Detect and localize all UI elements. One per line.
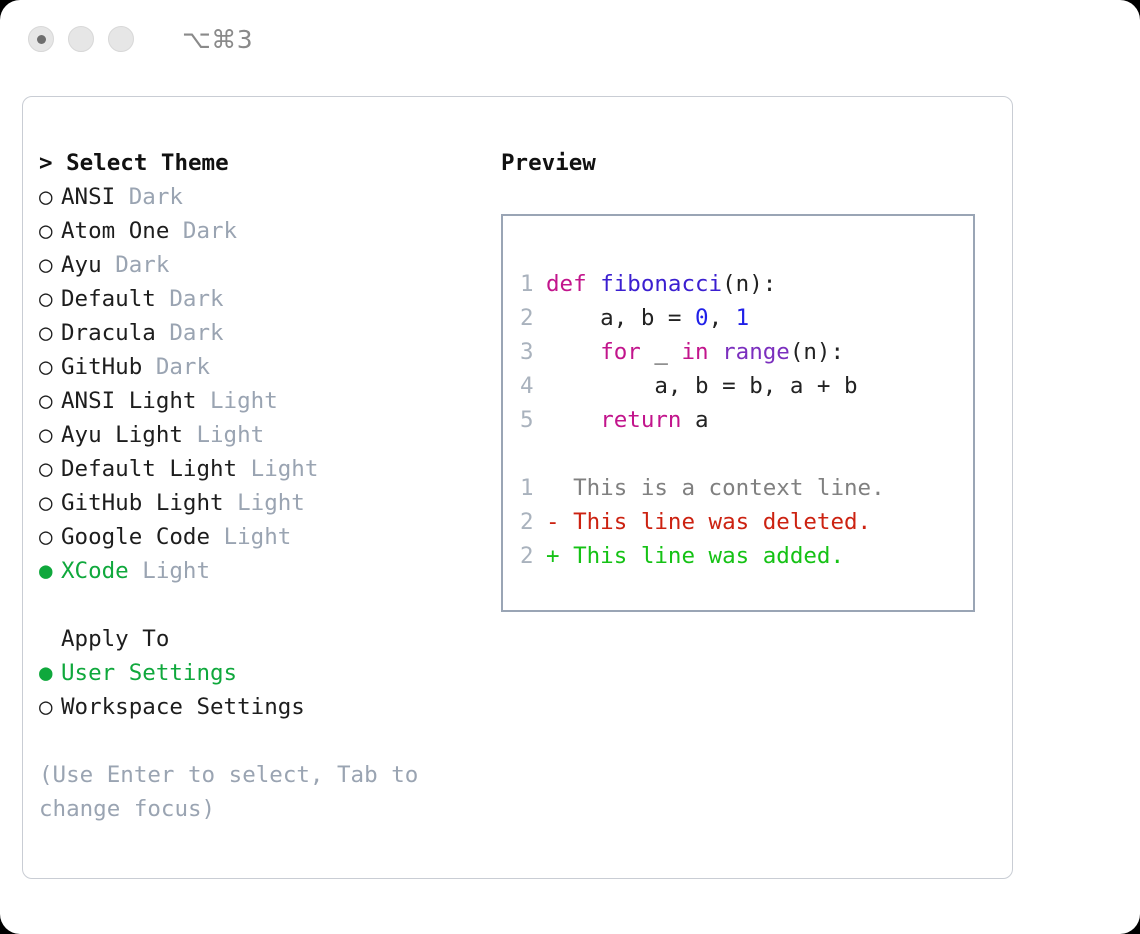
radio-unselected-icon: ○ [39,350,61,384]
radio-unselected-icon: ○ [39,520,61,554]
apply-to-heading: Apply To [39,622,469,656]
preview-box: 1def fibonacci(n):2 a, b = 0, 13 for _ i… [501,214,975,612]
theme-list-item[interactable]: ○ANSI Light Light [39,384,469,418]
radio-unselected-icon: ○ [39,384,61,418]
theme-variant: Dark [183,218,237,244]
theme-list-item[interactable]: ○Ayu Light Light [39,418,469,452]
code-token: , [709,305,736,331]
theme-name: ANSI Light [61,388,196,414]
diff-line-number: 2 [520,539,546,573]
radio-unselected-icon: ○ [39,452,61,486]
preview-panel: Preview 1def fibonacci(n):2 a, b = 0, 13… [501,146,991,612]
code-token: (n): [790,339,844,365]
theme-spacer [129,558,143,584]
theme-list-item[interactable]: ○Default Light Light [39,452,469,486]
theme-list-item[interactable]: ○Ayu Dark [39,248,469,282]
theme-name: Atom One [61,218,169,244]
theme-list: ○ANSI Dark○Atom One Dark○Ayu Dark○Defaul… [39,180,469,588]
code-token [709,339,723,365]
diff-line-text: + This line was added. [546,543,844,569]
code-line-number: 1 [520,267,546,301]
window-dot-third[interactable] [108,26,134,52]
code-token [587,271,601,297]
radio-selected-icon: ● [39,554,61,588]
code-line: 2 a, b = 0, 1 [520,301,967,335]
theme-spacer [156,286,170,312]
theme-variant: Light [196,422,264,448]
code-token: _ [641,339,682,365]
theme-name: Ayu Light [61,422,183,448]
theme-spacer [237,456,251,482]
theme-variant: Dark [169,286,223,312]
code-token [546,407,600,433]
theme-name: GitHub Light [61,490,224,516]
code-line: 4 a, b = b, a + b [520,369,967,403]
code-token: range [722,339,790,365]
apply-to-heading-indent [39,622,61,656]
apply-to-list: ●User Settings○Workspace Settings [39,656,469,724]
apply-to-label: User Settings [61,660,237,686]
code-token: fibonacci [600,271,722,297]
theme-variant: Light [251,456,319,482]
code-token: 0 [695,305,709,331]
diff-line-text: This is a context line. [546,475,885,501]
theme-list-item[interactable]: ○Default Dark [39,282,469,316]
diff-line-number: 1 [520,471,546,505]
theme-spacer [115,184,129,210]
code-token: return [600,407,681,433]
apply-to-item[interactable]: ○Workspace Settings [39,690,469,724]
diff-line: 1 This is a context line. [520,471,967,505]
theme-variant: Dark [129,184,183,210]
diff-line-text: - This line was deleted. [546,509,871,535]
theme-variant: Light [224,524,292,550]
theme-list-item[interactable]: ○Dracula Dark [39,316,469,350]
code-diff-separator [520,437,967,471]
preview-title: Preview [501,146,991,180]
theme-spacer [196,388,210,414]
theme-list-item[interactable]: ○ANSI Dark [39,180,469,214]
code-line-number: 2 [520,301,546,335]
app-window: ⌥⌘3 > Select Theme ○ANSI Dark○Atom One D… [0,0,1140,934]
radio-selected-icon: ● [39,656,61,690]
theme-name: GitHub [61,354,142,380]
theme-spacer [156,320,170,346]
code-block: 1def fibonacci(n):2 a, b = 0, 13 for _ i… [520,267,967,437]
code-token: a, b = [546,305,695,331]
theme-spacer [102,252,116,278]
theme-variant: Dark [169,320,223,346]
title-bar: ⌥⌘3 [0,0,1140,78]
radio-unselected-icon: ○ [39,316,61,350]
radio-unselected-icon: ○ [39,282,61,316]
theme-variant: Light [142,558,210,584]
code-token: a, b = b, a + b [546,373,858,399]
code-token: for [600,339,641,365]
theme-name: Default Light [61,456,237,482]
code-line-number: 5 [520,403,546,437]
code-token: 1 [736,305,750,331]
code-line-number: 4 [520,369,546,403]
code-line: 5 return a [520,403,967,437]
theme-name: ANSI [61,184,115,210]
diff-line: 2- This line was deleted. [520,505,967,539]
radio-unselected-icon: ○ [39,418,61,452]
code-line: 1def fibonacci(n): [520,267,967,301]
theme-variant: Dark [115,252,169,278]
apply-to-item[interactable]: ●User Settings [39,656,469,690]
theme-name: Ayu [61,252,102,278]
theme-spacer [142,354,156,380]
code-token: a [681,407,708,433]
theme-list-item[interactable]: ○Google Code Light [39,520,469,554]
select-theme-heading: > Select Theme [39,146,469,180]
theme-variant: Dark [156,354,210,380]
keyboard-shortcut-label: ⌥⌘3 [182,25,253,54]
code-line-number: 3 [520,335,546,369]
theme-name: Google Code [61,524,210,550]
apply-to-heading-label: Apply To [61,626,169,652]
radio-unselected-icon: ○ [39,248,61,282]
diff-line: 2+ This line was added. [520,539,967,573]
theme-spacer [183,422,197,448]
window-dot-second[interactable] [68,26,94,52]
theme-spacer [169,218,183,244]
apply-to-label: Workspace Settings [61,694,305,720]
theme-list-item[interactable]: ○GitHub Dark [39,350,469,384]
theme-variant: Light [210,388,278,414]
theme-name: Default [61,286,156,312]
window-dot-core-icon [37,35,46,44]
keyboard-hint-text: (Use Enter to select, Tab to change focu… [39,758,449,826]
radio-unselected-icon: ○ [39,690,61,724]
window-dot-active[interactable] [28,26,54,52]
code-token: in [681,339,708,365]
code-preview: 1def fibonacci(n):2 a, b = 0, 13 for _ i… [520,267,967,573]
theme-list-item[interactable]: ○Atom One Dark [39,214,469,248]
theme-spacer [224,490,238,516]
theme-spacer [210,524,224,550]
code-token [546,339,600,365]
radio-unselected-icon: ○ [39,486,61,520]
theme-name: XCode [61,558,129,584]
code-token: def [546,271,587,297]
theme-name: Dracula [61,320,156,346]
theme-selector-card: > Select Theme ○ANSI Dark○Atom One Dark○… [22,96,1013,879]
theme-variant: Light [237,490,305,516]
theme-list-item[interactable]: ○GitHub Light Light [39,486,469,520]
theme-list-item[interactable]: ●XCode Light [39,554,469,588]
diff-line-number: 2 [520,505,546,539]
code-token: (n): [722,271,776,297]
code-line: 3 for _ in range(n): [520,335,967,369]
radio-unselected-icon: ○ [39,214,61,248]
theme-list-panel: > Select Theme ○ANSI Dark○Atom One Dark○… [39,146,469,826]
radio-unselected-icon: ○ [39,180,61,214]
diff-block: 1 This is a context line.2- This line wa… [520,471,967,573]
